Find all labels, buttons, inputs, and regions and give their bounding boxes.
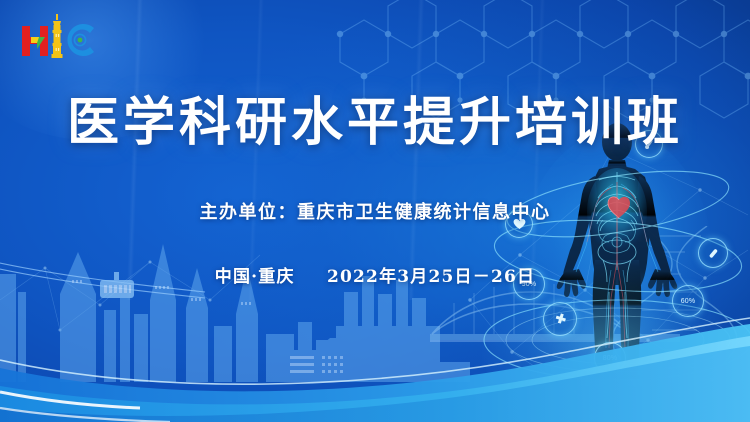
logo-letter-h bbox=[22, 26, 48, 56]
page-title: 医学科研水平提升培训班 bbox=[0, 80, 750, 155]
organizer-subtitle: 主办单位：重庆市卫生健康统计信息中心 bbox=[0, 198, 750, 224]
logo-letter-i-tower bbox=[52, 14, 63, 58]
conference-banner: 90% 60% 80% bbox=[0, 0, 750, 422]
dateline: 中国·重庆 2022年3月25日－26日 bbox=[0, 262, 750, 287]
hic-logo[interactable] bbox=[20, 12, 102, 64]
stat-badge-60-label: 60% bbox=[681, 298, 696, 305]
dateline-dates: 2022年3月25日－26日 bbox=[327, 267, 535, 287]
logo-letter-c bbox=[67, 24, 94, 56]
dateline-location: 中国·重庆 bbox=[215, 267, 295, 287]
bottom-wave-decoration bbox=[0, 312, 750, 422]
capsule-icon bbox=[707, 247, 720, 260]
